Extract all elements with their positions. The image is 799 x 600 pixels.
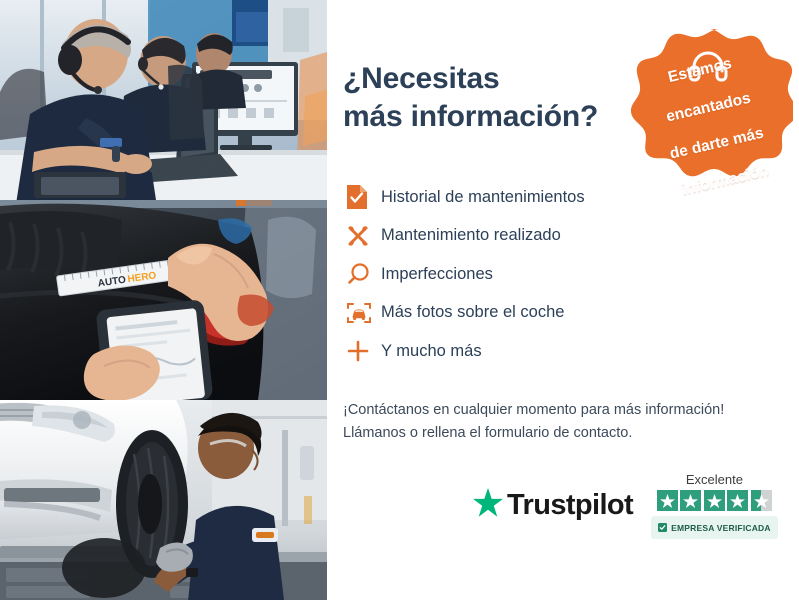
car-frame-icon bbox=[343, 301, 381, 325]
star-3 bbox=[704, 490, 725, 511]
star-4 bbox=[727, 490, 748, 511]
contact-copy: ¡Contáctanos en cualquier momento para m… bbox=[343, 399, 799, 446]
trustpilot-rating-label: Excelente bbox=[686, 472, 743, 487]
feature-label: Imperfecciones bbox=[381, 265, 493, 284]
headline-line-2: más información? bbox=[343, 98, 633, 136]
feature-label: Mantenimiento realizado bbox=[381, 226, 561, 245]
trustpilot-logo[interactable]: Trustpilot bbox=[473, 488, 633, 522]
verified-label: EMPRESA VERIFICADA bbox=[671, 523, 771, 533]
contact-line-1: ¡Contáctanos en cualquier momento para m… bbox=[343, 399, 799, 422]
feature-item-mas: Y mucho más bbox=[343, 332, 799, 371]
star-2 bbox=[680, 490, 701, 511]
feature-item-mantenimiento: Mantenimiento realizado bbox=[343, 217, 799, 256]
trustpilot-star-icon bbox=[473, 488, 503, 522]
document-check-icon bbox=[343, 184, 381, 210]
feature-item-imperfecciones: Imperfecciones bbox=[343, 255, 799, 294]
trustpilot-stars bbox=[657, 490, 772, 511]
info-badge: Estamos encantados de darte más informac… bbox=[625, 27, 793, 193]
feature-list: Historial de mantenimientos M bbox=[343, 178, 799, 371]
photo-column: AUTO HERO bbox=[0, 0, 327, 600]
badge-line-1: Estamos bbox=[651, 51, 748, 91]
plus-icon bbox=[343, 339, 381, 363]
promo-banner: AUTO HERO bbox=[0, 0, 799, 600]
call-center-agent-photo bbox=[0, 0, 327, 200]
contact-line-2: Llámanos o rellena el formulario de cont… bbox=[343, 422, 799, 445]
badge-line-2: encantados bbox=[660, 88, 757, 128]
crossed-tools-icon bbox=[343, 224, 381, 248]
star-1 bbox=[657, 490, 678, 511]
star-5-half bbox=[751, 490, 772, 511]
verified-check-icon bbox=[658, 519, 667, 537]
feature-item-fotos: Más fotos sobre el coche bbox=[343, 294, 799, 333]
trustpilot-rating-block: Excelente bbox=[651, 472, 778, 539]
car-inspection-photo: AUTO HERO bbox=[0, 200, 327, 400]
page-title: ¿Necesitas más información? bbox=[343, 60, 633, 136]
verified-company-badge: EMPRESA VERIFICADA bbox=[651, 516, 778, 539]
mechanic-wheel-photo bbox=[0, 400, 327, 600]
badge-line-3: de darte más bbox=[668, 125, 765, 165]
content-panel: ¿Necesitas más información? Estamos enca… bbox=[327, 0, 799, 600]
magnifier-icon bbox=[343, 262, 381, 286]
trustpilot-wordmark: Trustpilot bbox=[507, 489, 633, 522]
trustpilot-widget[interactable]: Trustpilot Excelente bbox=[473, 472, 778, 539]
feature-label: Más fotos sobre el coche bbox=[381, 303, 564, 322]
feature-label: Historial de mantenimientos bbox=[381, 188, 585, 207]
headline-line-1: ¿Necesitas bbox=[343, 62, 499, 95]
feature-label: Y mucho más bbox=[381, 342, 482, 361]
